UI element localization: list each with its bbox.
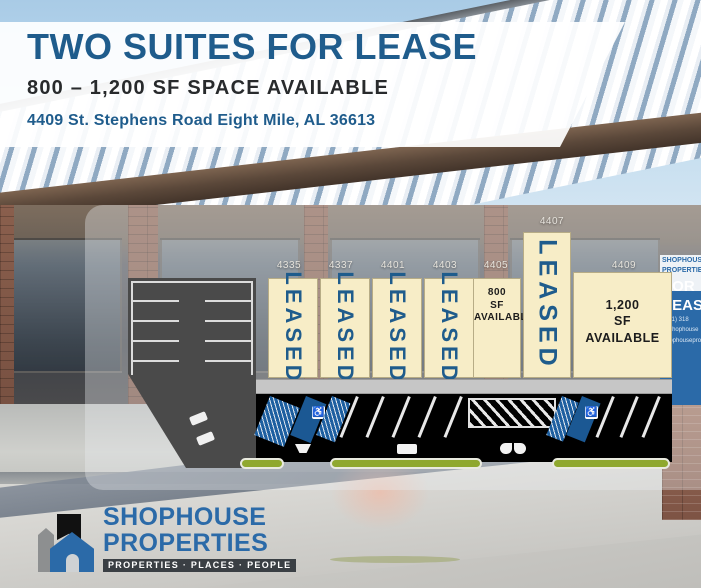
handicap-icon: ♿: [585, 406, 598, 419]
vehicle-marker: [397, 444, 417, 454]
suite-status-4403: LEASED: [436, 271, 462, 384]
parking-stall-line: [131, 360, 179, 362]
suite-status-4335: LEASED: [280, 271, 306, 384]
vehicle-marker: [500, 443, 512, 454]
logo-line-1: SHOPHOUSE: [103, 505, 296, 530]
parking-stall-line: [131, 340, 179, 342]
suite-box-4407[interactable]: LEASED: [523, 232, 571, 378]
crosswalk-hatch: [468, 398, 556, 428]
site-plan: 4335 LEASED 4337 LEASED 4401 LEASED 4403…: [0, 0, 701, 588]
suite-box-4403[interactable]: LEASED: [424, 278, 474, 378]
vehicle-marker: [514, 443, 526, 454]
suite-4409-size: 1,200: [606, 298, 640, 312]
suite-number-4337: 4337: [320, 260, 362, 271]
landscape-island: [552, 458, 670, 469]
parking-stall-line: [131, 320, 179, 322]
landscape-island: [330, 458, 482, 469]
logo-line-2: PROPERTIES: [103, 531, 296, 556]
suite-status-4337: LEASED: [332, 271, 358, 384]
suite-number-4335: 4335: [268, 260, 310, 271]
suite-4409-unit: SF: [614, 314, 631, 328]
suite-status-4407: LEASED: [533, 239, 562, 370]
suite-number-4401: 4401: [372, 260, 414, 271]
parking-stall-line: [205, 300, 253, 302]
logo-mark-icon: [38, 514, 94, 572]
parking-stall-line: [131, 300, 179, 302]
suite-4405-size: 800: [488, 287, 506, 298]
suite-number-4405: 4405: [472, 260, 520, 271]
suite-number-4407: 4407: [528, 216, 576, 227]
suite-4409-availability: AVAILABLE: [585, 331, 659, 345]
suite-box-4409[interactable]: 1,200 SF AVAILABLE: [573, 272, 672, 378]
sidewalk-strip: [256, 379, 672, 394]
logo-tagline: PROPERTIES · PLACES · PEOPLE: [103, 559, 296, 572]
landscape-island: [240, 458, 284, 469]
logo-wordmark: SHOPHOUSE PROPERTIES PROPERTIES · PLACES…: [103, 505, 296, 572]
suite-number-4409: 4409: [600, 260, 648, 271]
suite-number-4403: 4403: [424, 260, 466, 271]
suite-status-4401: LEASED: [384, 271, 410, 384]
parking-stall-line: [205, 320, 253, 322]
suite-box-4401[interactable]: LEASED: [372, 278, 422, 378]
suite-box-4405[interactable]: 800 SF AVAILABLE: [473, 278, 521, 378]
parking-stall-line: [205, 340, 253, 342]
parking-stall-line: [205, 360, 253, 362]
suite-box-4335[interactable]: LEASED: [268, 278, 318, 378]
suite-4405-unit: SF: [490, 300, 504, 311]
suite-box-4337[interactable]: LEASED: [320, 278, 370, 378]
shophouse-properties-logo: SHOPHOUSE PROPERTIES PROPERTIES · PLACES…: [38, 505, 296, 572]
logo-door-icon: [66, 554, 79, 572]
